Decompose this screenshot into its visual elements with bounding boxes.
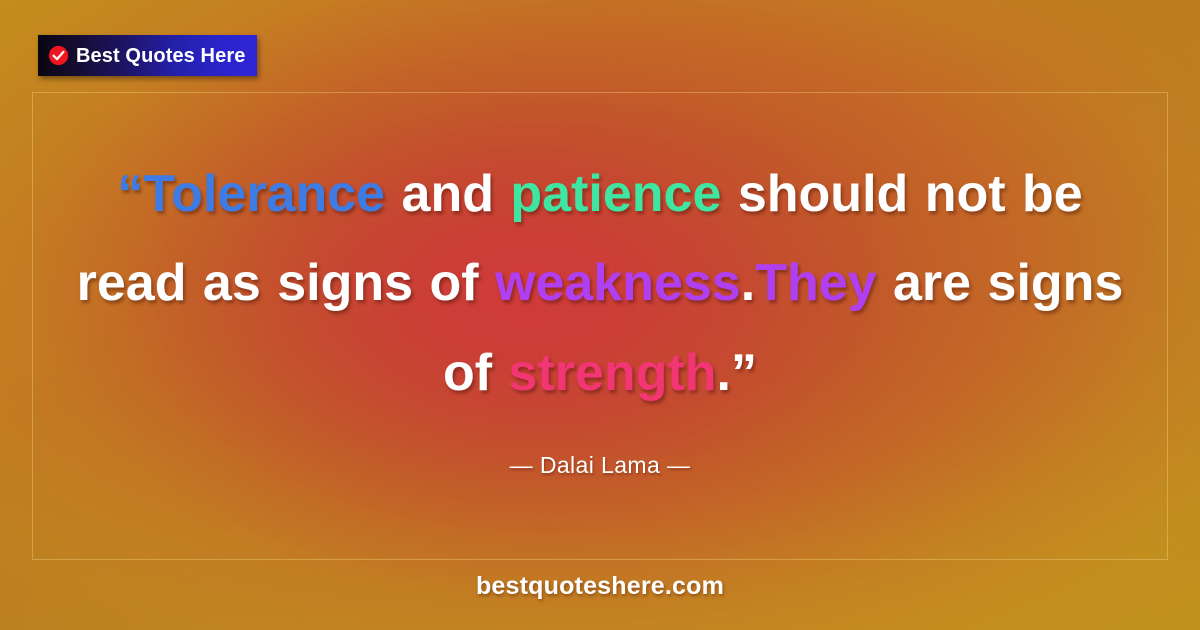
brand-badge[interactable]: Best Quotes Here bbox=[38, 35, 257, 76]
footer-website-url[interactable]: bestquoteshere.com bbox=[476, 572, 724, 600]
quote-segment-closing: .” bbox=[717, 344, 757, 402]
quote-segment-weakness: weakness bbox=[495, 254, 741, 312]
brand-badge-label: Best Quotes Here bbox=[76, 46, 245, 66]
quote-segment-and: and bbox=[385, 165, 510, 223]
footer: bestquoteshere.com bbox=[0, 572, 1200, 601]
quote-segment-period: . bbox=[741, 254, 755, 312]
quote-segment-tolerance: “Tolerance bbox=[117, 165, 385, 223]
quote-segment-strength: strength bbox=[509, 344, 717, 402]
quote-segment-patience: patience bbox=[510, 165, 721, 223]
quote-block: “Tolerance and patience should not be re… bbox=[60, 150, 1140, 479]
quote-poster: Best Quotes Here “Tolerance and patience… bbox=[0, 0, 1200, 630]
quote-attribution: — Dalai Lama — bbox=[60, 452, 1140, 479]
verified-check-icon bbox=[48, 45, 69, 66]
quote-segment-they: They bbox=[755, 254, 876, 312]
quote-text: “Tolerance and patience should not be re… bbox=[60, 150, 1140, 418]
